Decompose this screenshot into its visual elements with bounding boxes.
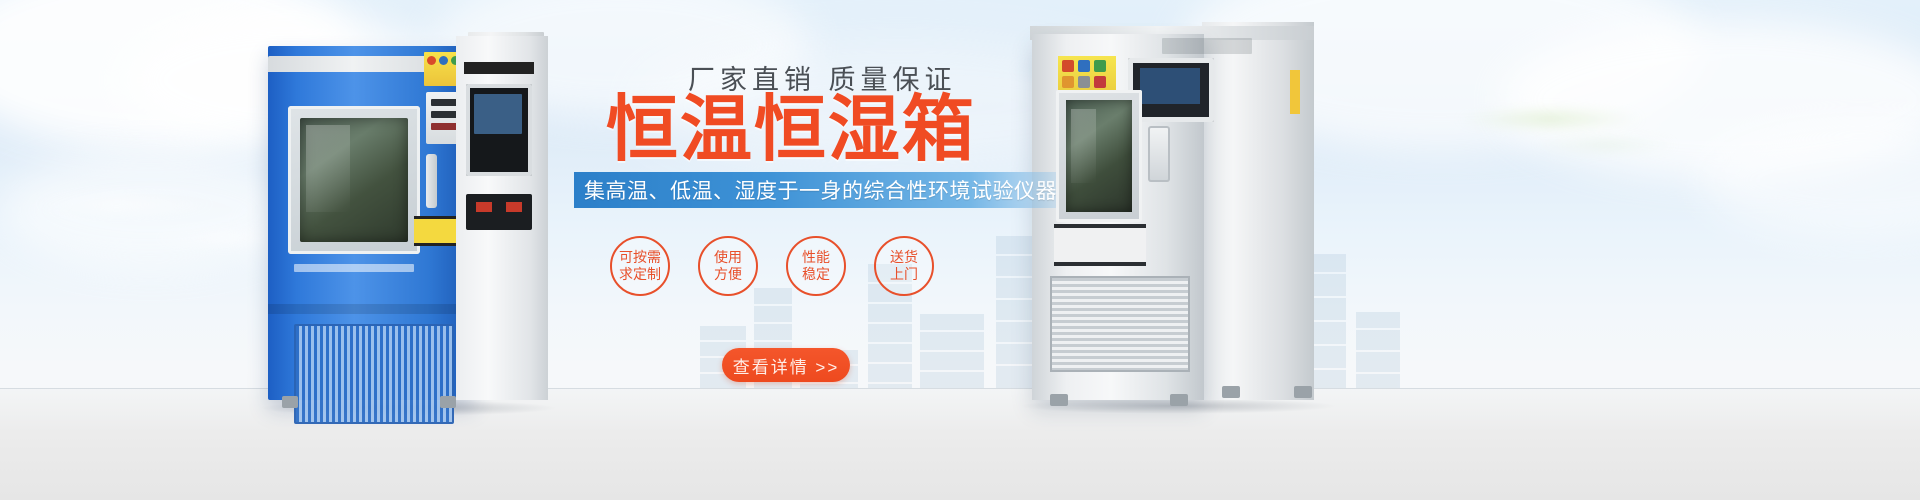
chamber-brand-plate bbox=[1162, 38, 1252, 54]
wind-streak bbox=[30, 196, 220, 212]
door-viewing-window bbox=[1066, 100, 1132, 212]
product-image-right-chamber bbox=[1022, 10, 1322, 400]
product-image-left-auxiliary-unit bbox=[456, 36, 548, 400]
view-details-button[interactable]: 查看详情 >> bbox=[722, 348, 850, 382]
feature-badge-line2: 方便 bbox=[714, 266, 742, 283]
door-handle bbox=[426, 154, 437, 208]
feature-badge-custom[interactable]: 可按需 求定制 bbox=[610, 236, 670, 296]
headline-text: 恒温恒湿箱 bbox=[606, 92, 976, 168]
promo-banner: 厂家直销 质量保证 恒温恒湿箱 集高温、低温、湿度于一身的综合性环境试验仪器 可… bbox=[0, 0, 1920, 500]
feature-badge-line2: 稳定 bbox=[802, 266, 830, 283]
unit-top-cap bbox=[464, 62, 534, 74]
door-handle bbox=[1148, 126, 1170, 182]
feature-badge-delivery[interactable]: 送货 上门 bbox=[874, 236, 934, 296]
subtitle-text: 集高温、低温、湿度于一身的综合性环境试验仪器 bbox=[574, 175, 1057, 205]
chamber-foot bbox=[1222, 386, 1240, 398]
chamber-foot bbox=[282, 396, 298, 408]
view-details-button-label: 查看详情 >> bbox=[733, 353, 840, 378]
side-indicator-strip bbox=[1290, 70, 1300, 114]
hmi-touch-screen bbox=[466, 84, 532, 176]
chamber-nameplate bbox=[294, 264, 414, 272]
feature-badge-line1: 送货 bbox=[890, 249, 918, 266]
chamber-body bbox=[268, 46, 474, 400]
chamber-foot bbox=[440, 396, 456, 408]
ventilation-grille bbox=[1050, 276, 1190, 372]
chamber-foot bbox=[1294, 386, 1312, 398]
feature-badge-line1: 可按需 bbox=[619, 249, 661, 266]
chamber-divider bbox=[268, 304, 474, 314]
chamber-door bbox=[1056, 90, 1142, 222]
banner-copy-block: 厂家直销 质量保证 恒温恒湿箱 集高温、低温、湿度于一身的综合性环境试验仪器 可… bbox=[566, 46, 1066, 466]
wind-streak bbox=[1455, 112, 1645, 126]
feature-badge-line1: 性能 bbox=[802, 249, 830, 266]
feature-badge-line1: 使用 bbox=[714, 249, 742, 266]
indicator-panel bbox=[466, 194, 532, 230]
chamber-foot bbox=[1170, 394, 1188, 406]
feature-badge-line2: 求定制 bbox=[619, 266, 661, 283]
feature-badge-easy-use[interactable]: 使用 方便 bbox=[698, 236, 758, 296]
feature-badge-list: 可按需 求定制 使用 方便 性能 稳定 送货 上门 bbox=[610, 236, 1030, 326]
chamber-door bbox=[288, 106, 420, 254]
feature-badge-stable-performance[interactable]: 性能 稳定 bbox=[786, 236, 846, 296]
feature-badge-line2: 上门 bbox=[890, 266, 918, 283]
door-viewing-window bbox=[300, 118, 408, 242]
ventilation-grille bbox=[294, 324, 454, 424]
wind-streak bbox=[1530, 140, 1680, 150]
subtitle-bar: 集高温、低温、湿度于一身的综合性环境试验仪器 bbox=[574, 172, 1056, 208]
hazard-stripe-label bbox=[1054, 224, 1146, 266]
